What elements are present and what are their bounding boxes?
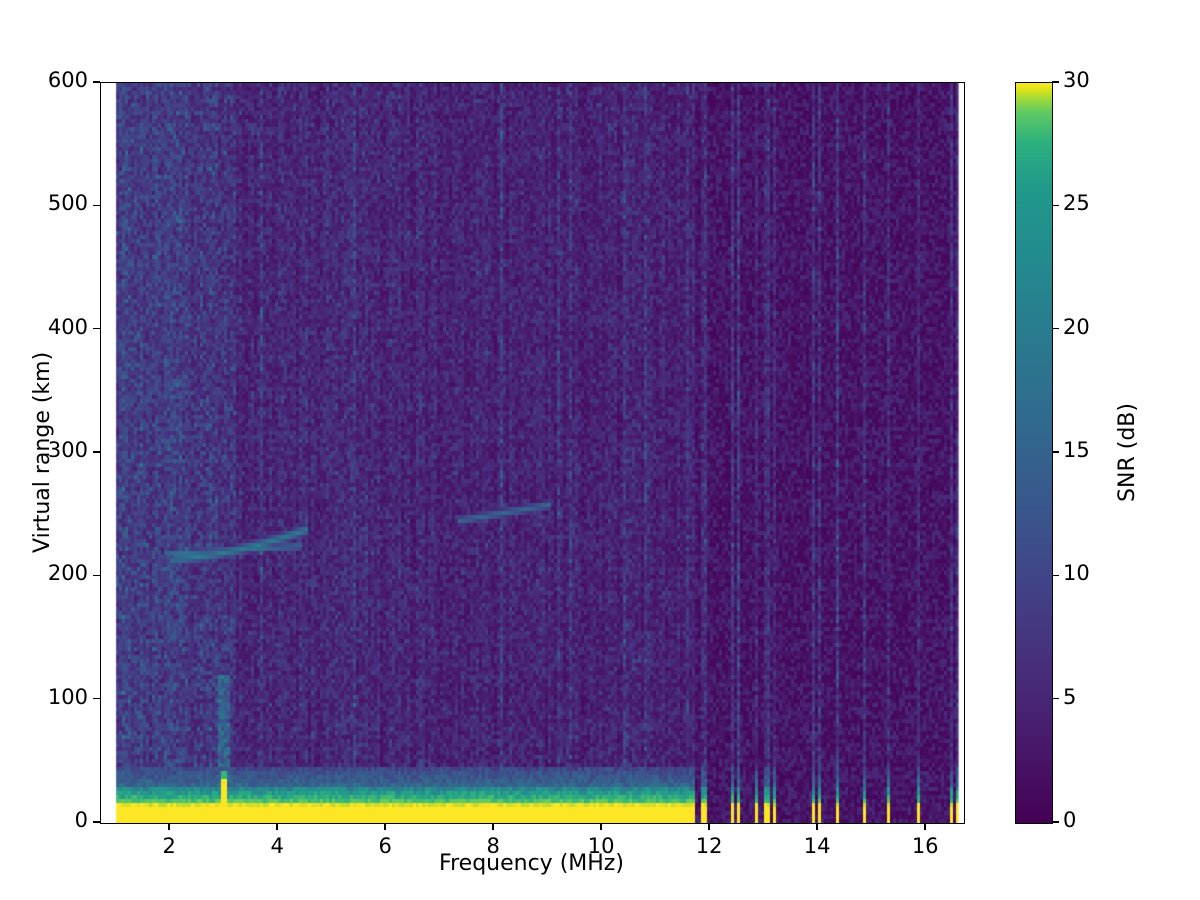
colorbar-tick-mark bbox=[1052, 821, 1059, 822]
ionogram-heatmap bbox=[101, 83, 964, 823]
x-tick-label: 6 bbox=[345, 834, 425, 858]
x-tick-mark bbox=[492, 823, 493, 830]
colorbar-tick-label: 30 bbox=[1063, 68, 1090, 92]
x-tick-label: 12 bbox=[669, 834, 749, 858]
y-tick-label: 200 bbox=[48, 561, 88, 585]
y-tick-label: 100 bbox=[48, 685, 88, 709]
colorbar-tick-label: 5 bbox=[1063, 685, 1076, 709]
x-tick-label: 2 bbox=[129, 834, 209, 858]
colorbar-tick-label: 0 bbox=[1063, 808, 1076, 832]
x-tick-mark bbox=[168, 823, 169, 830]
colorbar-label: SNR (dB) bbox=[1115, 403, 1140, 502]
colorbar-tick-label: 10 bbox=[1063, 561, 1090, 585]
y-tick-mark bbox=[93, 698, 100, 699]
colorbar-tick-mark bbox=[1052, 81, 1059, 82]
x-tick-label: 10 bbox=[561, 834, 641, 858]
y-tick-label: 400 bbox=[48, 315, 88, 339]
y-tick-label: 0 bbox=[75, 808, 88, 832]
x-tick-mark bbox=[276, 823, 277, 830]
y-tick-mark bbox=[93, 821, 100, 822]
y-tick-label: 600 bbox=[48, 68, 88, 92]
ionogram-figure: IRF Uppsala SDR Ionosonde UP158 2026-01-… bbox=[0, 0, 1200, 900]
y-tick-mark bbox=[93, 328, 100, 329]
colorbar-tick-mark bbox=[1052, 328, 1059, 329]
x-tick-label: 16 bbox=[885, 834, 965, 858]
y-tick-mark bbox=[93, 575, 100, 576]
colorbar-tick-mark bbox=[1052, 698, 1059, 699]
y-tick-mark bbox=[93, 81, 100, 82]
colorbar-tick-mark bbox=[1052, 451, 1059, 452]
plot-area bbox=[100, 82, 965, 824]
y-tick-mark bbox=[93, 205, 100, 206]
colorbar-tick-label: 15 bbox=[1063, 438, 1090, 462]
y-tick-mark bbox=[93, 451, 100, 452]
x-tick-mark bbox=[816, 823, 817, 830]
x-tick-label: 14 bbox=[777, 834, 857, 858]
x-tick-mark bbox=[600, 823, 601, 830]
colorbar-tick-label: 20 bbox=[1063, 315, 1090, 339]
colorbar-tick-mark bbox=[1052, 205, 1059, 206]
y-tick-label: 300 bbox=[48, 438, 88, 462]
colorbar bbox=[1015, 82, 1053, 824]
x-tick-mark bbox=[708, 823, 709, 830]
colorbar-tick-label: 25 bbox=[1063, 191, 1090, 215]
x-tick-mark bbox=[384, 823, 385, 830]
x-tick-mark bbox=[924, 823, 925, 830]
x-tick-label: 4 bbox=[237, 834, 317, 858]
x-tick-label: 8 bbox=[453, 834, 533, 858]
y-tick-label: 500 bbox=[48, 191, 88, 215]
colorbar-tick-mark bbox=[1052, 575, 1059, 576]
